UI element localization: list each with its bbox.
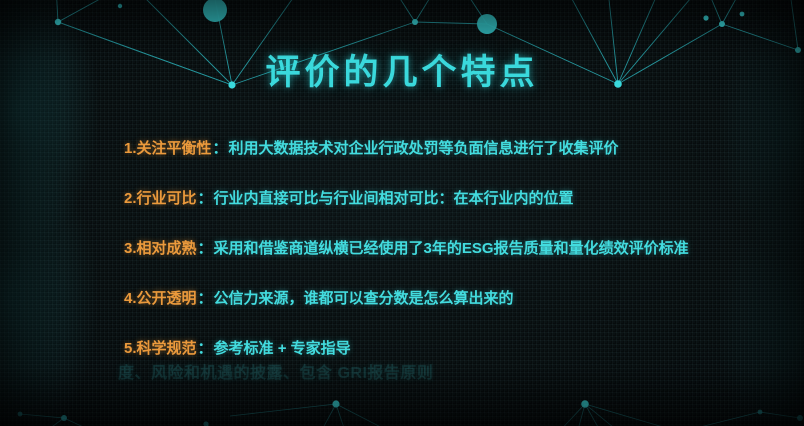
bullet-number: 1. xyxy=(124,140,137,157)
bullet-body: 利用大数据技术对企业行政处罚等负面信息进行了收集评价 xyxy=(229,140,619,157)
bullet-keyword: 相对成熟 xyxy=(137,240,197,257)
slide-content: 评价的几个特点 1.关注平衡性：利用大数据技术对企业行政处罚等负面信息进行了收集… xyxy=(0,0,804,426)
bullet-number: 2. xyxy=(124,190,137,207)
bullet-body: 公信力来源，谁都可以查分数是怎么算出来的 xyxy=(214,290,514,307)
list-item: 4.公开透明：公信力来源，谁都可以查分数是怎么算出来的 xyxy=(124,286,784,336)
list-item: 1.关注平衡性：利用大数据技术对企业行政处罚等负面信息进行了收集评价 xyxy=(124,136,784,186)
bullet-separator: ： xyxy=(197,190,214,207)
bullet-separator: ： xyxy=(197,240,214,257)
presentation-slide: 评价的几个特点 1.关注平衡性：利用大数据技术对企业行政处罚等负面信息进行了收集… xyxy=(0,0,804,426)
page-title: 评价的几个特点 xyxy=(0,44,804,95)
bullet-body: 参考标准 + 专家指导 xyxy=(214,340,351,357)
bullet-keyword: 科学规范 xyxy=(137,340,197,357)
list-item: 3.相对成熟：采用和借鉴商道纵横已经使用了3年的ESG报告质量和量化绩效评价标准 xyxy=(124,236,784,286)
bullet-separator: ： xyxy=(197,340,214,357)
bullet-list: 1.关注平衡性：利用大数据技术对企业行政处罚等负面信息进行了收集评价 2.行业可… xyxy=(124,136,784,386)
bullet-number: 4. xyxy=(124,290,137,307)
bullet-keyword: 公开透明 xyxy=(137,290,197,307)
bullet-separator: ： xyxy=(197,290,214,307)
list-item: 2.行业可比：行业内直接可比与行业间相对可比：在本行业内的位置 xyxy=(124,186,784,236)
bullet-number: 3. xyxy=(124,240,137,257)
bullet-body: 行业内直接可比与行业间相对可比：在本行业内的位置 xyxy=(214,190,574,207)
bullet-body: 采用和借鉴商道纵横已经使用了3年的ESG报告质量和量化绩效评价标准 xyxy=(214,240,689,257)
bullet-keyword: 行业可比 xyxy=(137,190,197,207)
bullet-separator: ： xyxy=(212,140,229,157)
bullet-keyword: 关注平衡性 xyxy=(137,140,212,157)
faded-residual-text: 度、风险和机遇的披露、包含 GRI报告原则 xyxy=(118,359,433,383)
bullet-number: 5. xyxy=(124,340,137,357)
